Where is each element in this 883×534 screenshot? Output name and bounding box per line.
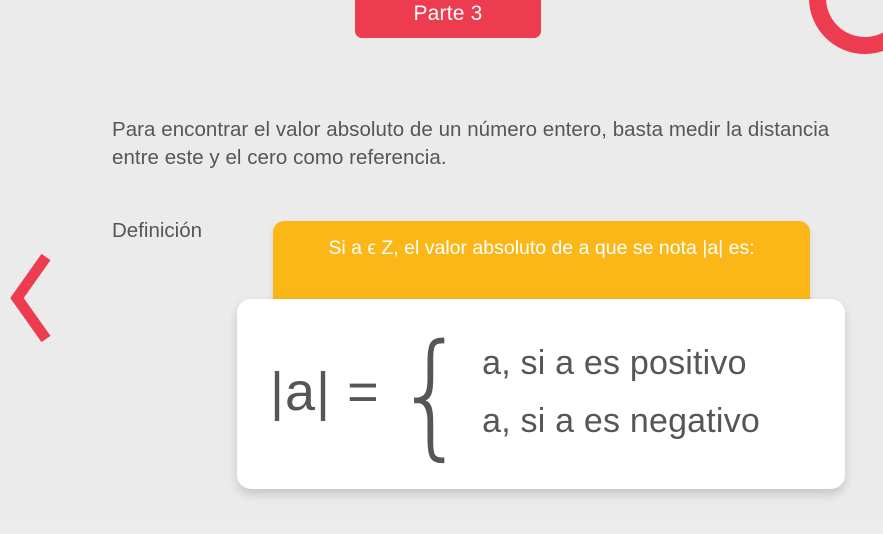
formula-left-side: |a| =: [270, 364, 380, 420]
formula-card: |a| = { a, si a es positivo a, si a es n…: [237, 299, 845, 489]
prev-slide-button[interactable]: [8, 252, 54, 344]
formula-expression: |a| = { a, si a es positivo a, si a es n…: [270, 334, 760, 450]
slide-canvas: Parte 3 Para encontrar el valor absoluto…: [0, 0, 883, 534]
bottom-band: [0, 520, 883, 534]
definition-label: Definición: [112, 217, 202, 245]
formula-cases: a, si a es positivo a, si a es negativo: [482, 334, 760, 450]
chevron-left-icon: [8, 252, 54, 344]
circle-ring-decoration-icon: [809, 0, 883, 54]
intro-paragraph: Para encontrar el valor absoluto de un n…: [112, 116, 852, 172]
part-badge: Parte 3: [355, 0, 541, 38]
formula-case-negative: a, si a es negativo: [482, 392, 760, 450]
formula-case-positive: a, si a es positivo: [482, 334, 760, 392]
